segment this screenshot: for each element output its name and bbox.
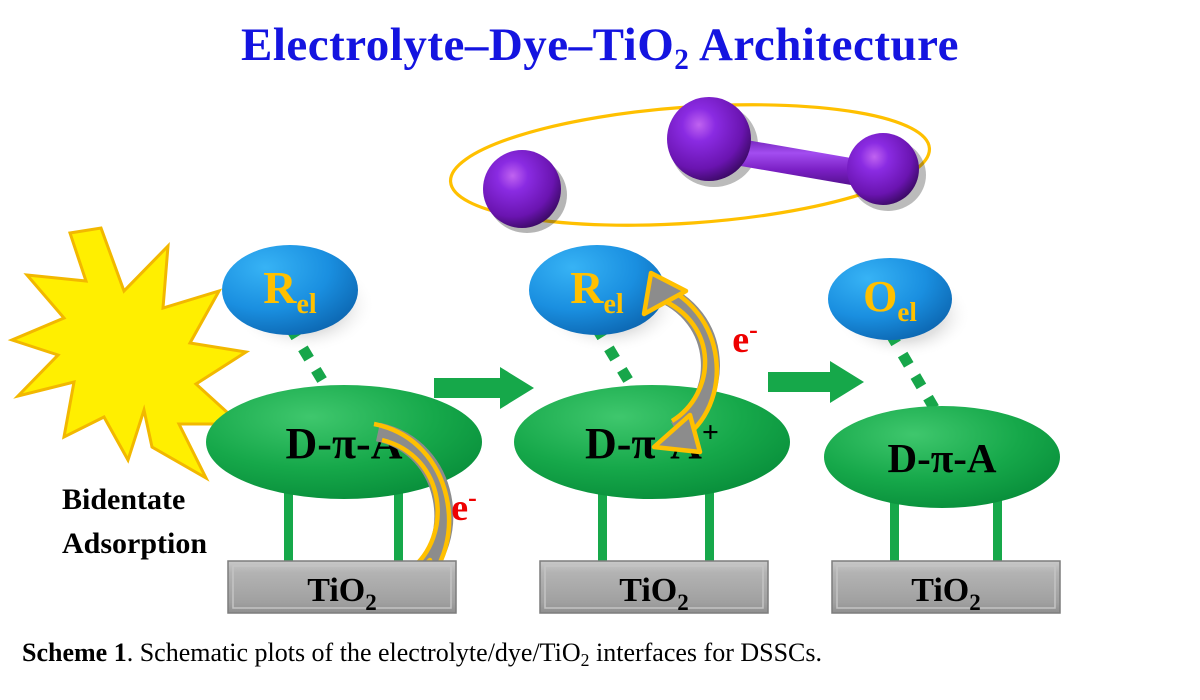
molecule-atom-right bbox=[847, 133, 919, 205]
electrolyte-reservoir bbox=[447, 90, 934, 239]
stage2-electron-label-sup: - bbox=[749, 315, 758, 344]
diagram-canvas: Rel D-π-A e- TiO2 bbox=[0, 0, 1200, 700]
molecule-atom-left bbox=[667, 97, 751, 181]
stage2-redox-label-main: R bbox=[570, 262, 604, 313]
figure-caption-text-after: interfaces for DSSCs. bbox=[590, 638, 823, 667]
stage1-electron-label: e- bbox=[451, 483, 477, 529]
scheme-figure: Electrolyte–Dye–TiO2 Architecture bbox=[0, 0, 1200, 700]
stage2-substrate-label-sub: 2 bbox=[677, 590, 689, 615]
stage3-substrate-label-main: TiO bbox=[911, 572, 969, 609]
stage1-redox-label-main: R bbox=[263, 262, 297, 313]
stage3-substrate-label-sub: 2 bbox=[969, 590, 981, 615]
stage2-redox-label-sub: el bbox=[604, 289, 624, 320]
stage2-substrate-label-main: TiO bbox=[619, 572, 677, 609]
iodide-monatomic-species bbox=[483, 150, 567, 233]
flow-arrow-stage1-to-stage2 bbox=[434, 367, 534, 409]
figure-caption: Scheme 1. Schematic plots of the electro… bbox=[22, 638, 1192, 668]
stage1-redox-label-sub: el bbox=[297, 289, 317, 320]
figure-caption-subscript: 2 bbox=[581, 650, 590, 670]
bidentate-adsorption-line2: Adsorption bbox=[62, 527, 207, 560]
stage2-dye-superscript: + bbox=[702, 416, 719, 449]
stage-2: Rel D-π-A+ e- TiO2 bbox=[514, 245, 790, 615]
stage3-redox-label-main: O bbox=[863, 272, 897, 321]
bidentate-adsorption-note: Bidentate Adsorption bbox=[62, 483, 207, 560]
stage3-redox-label-sub: el bbox=[897, 297, 917, 327]
stage1-electron-label-sup: - bbox=[468, 483, 477, 512]
bidentate-adsorption-line1: Bidentate bbox=[62, 483, 185, 516]
triiodide-diatomic-species bbox=[667, 97, 926, 211]
figure-caption-label: Scheme 1 bbox=[22, 638, 127, 667]
figure-caption-text-before: . Schematic plots of the electrolyte/dye… bbox=[127, 638, 581, 667]
stage1-electron-label-main: e bbox=[451, 487, 468, 529]
stage-3: Oel D-π-A TiO2 bbox=[824, 258, 1060, 615]
stage1-substrate-label-sub: 2 bbox=[365, 590, 377, 615]
flow-arrow-stage2-to-stage3 bbox=[768, 361, 864, 403]
stage1-substrate-label-main: TiO bbox=[307, 572, 365, 609]
stage2-electron-label-main: e bbox=[732, 319, 749, 361]
stage-1: Rel D-π-A e- TiO2 bbox=[206, 245, 482, 615]
stage2-electron-label: e- bbox=[732, 315, 758, 361]
stage3-dye-label: D-π-A bbox=[888, 435, 997, 481]
